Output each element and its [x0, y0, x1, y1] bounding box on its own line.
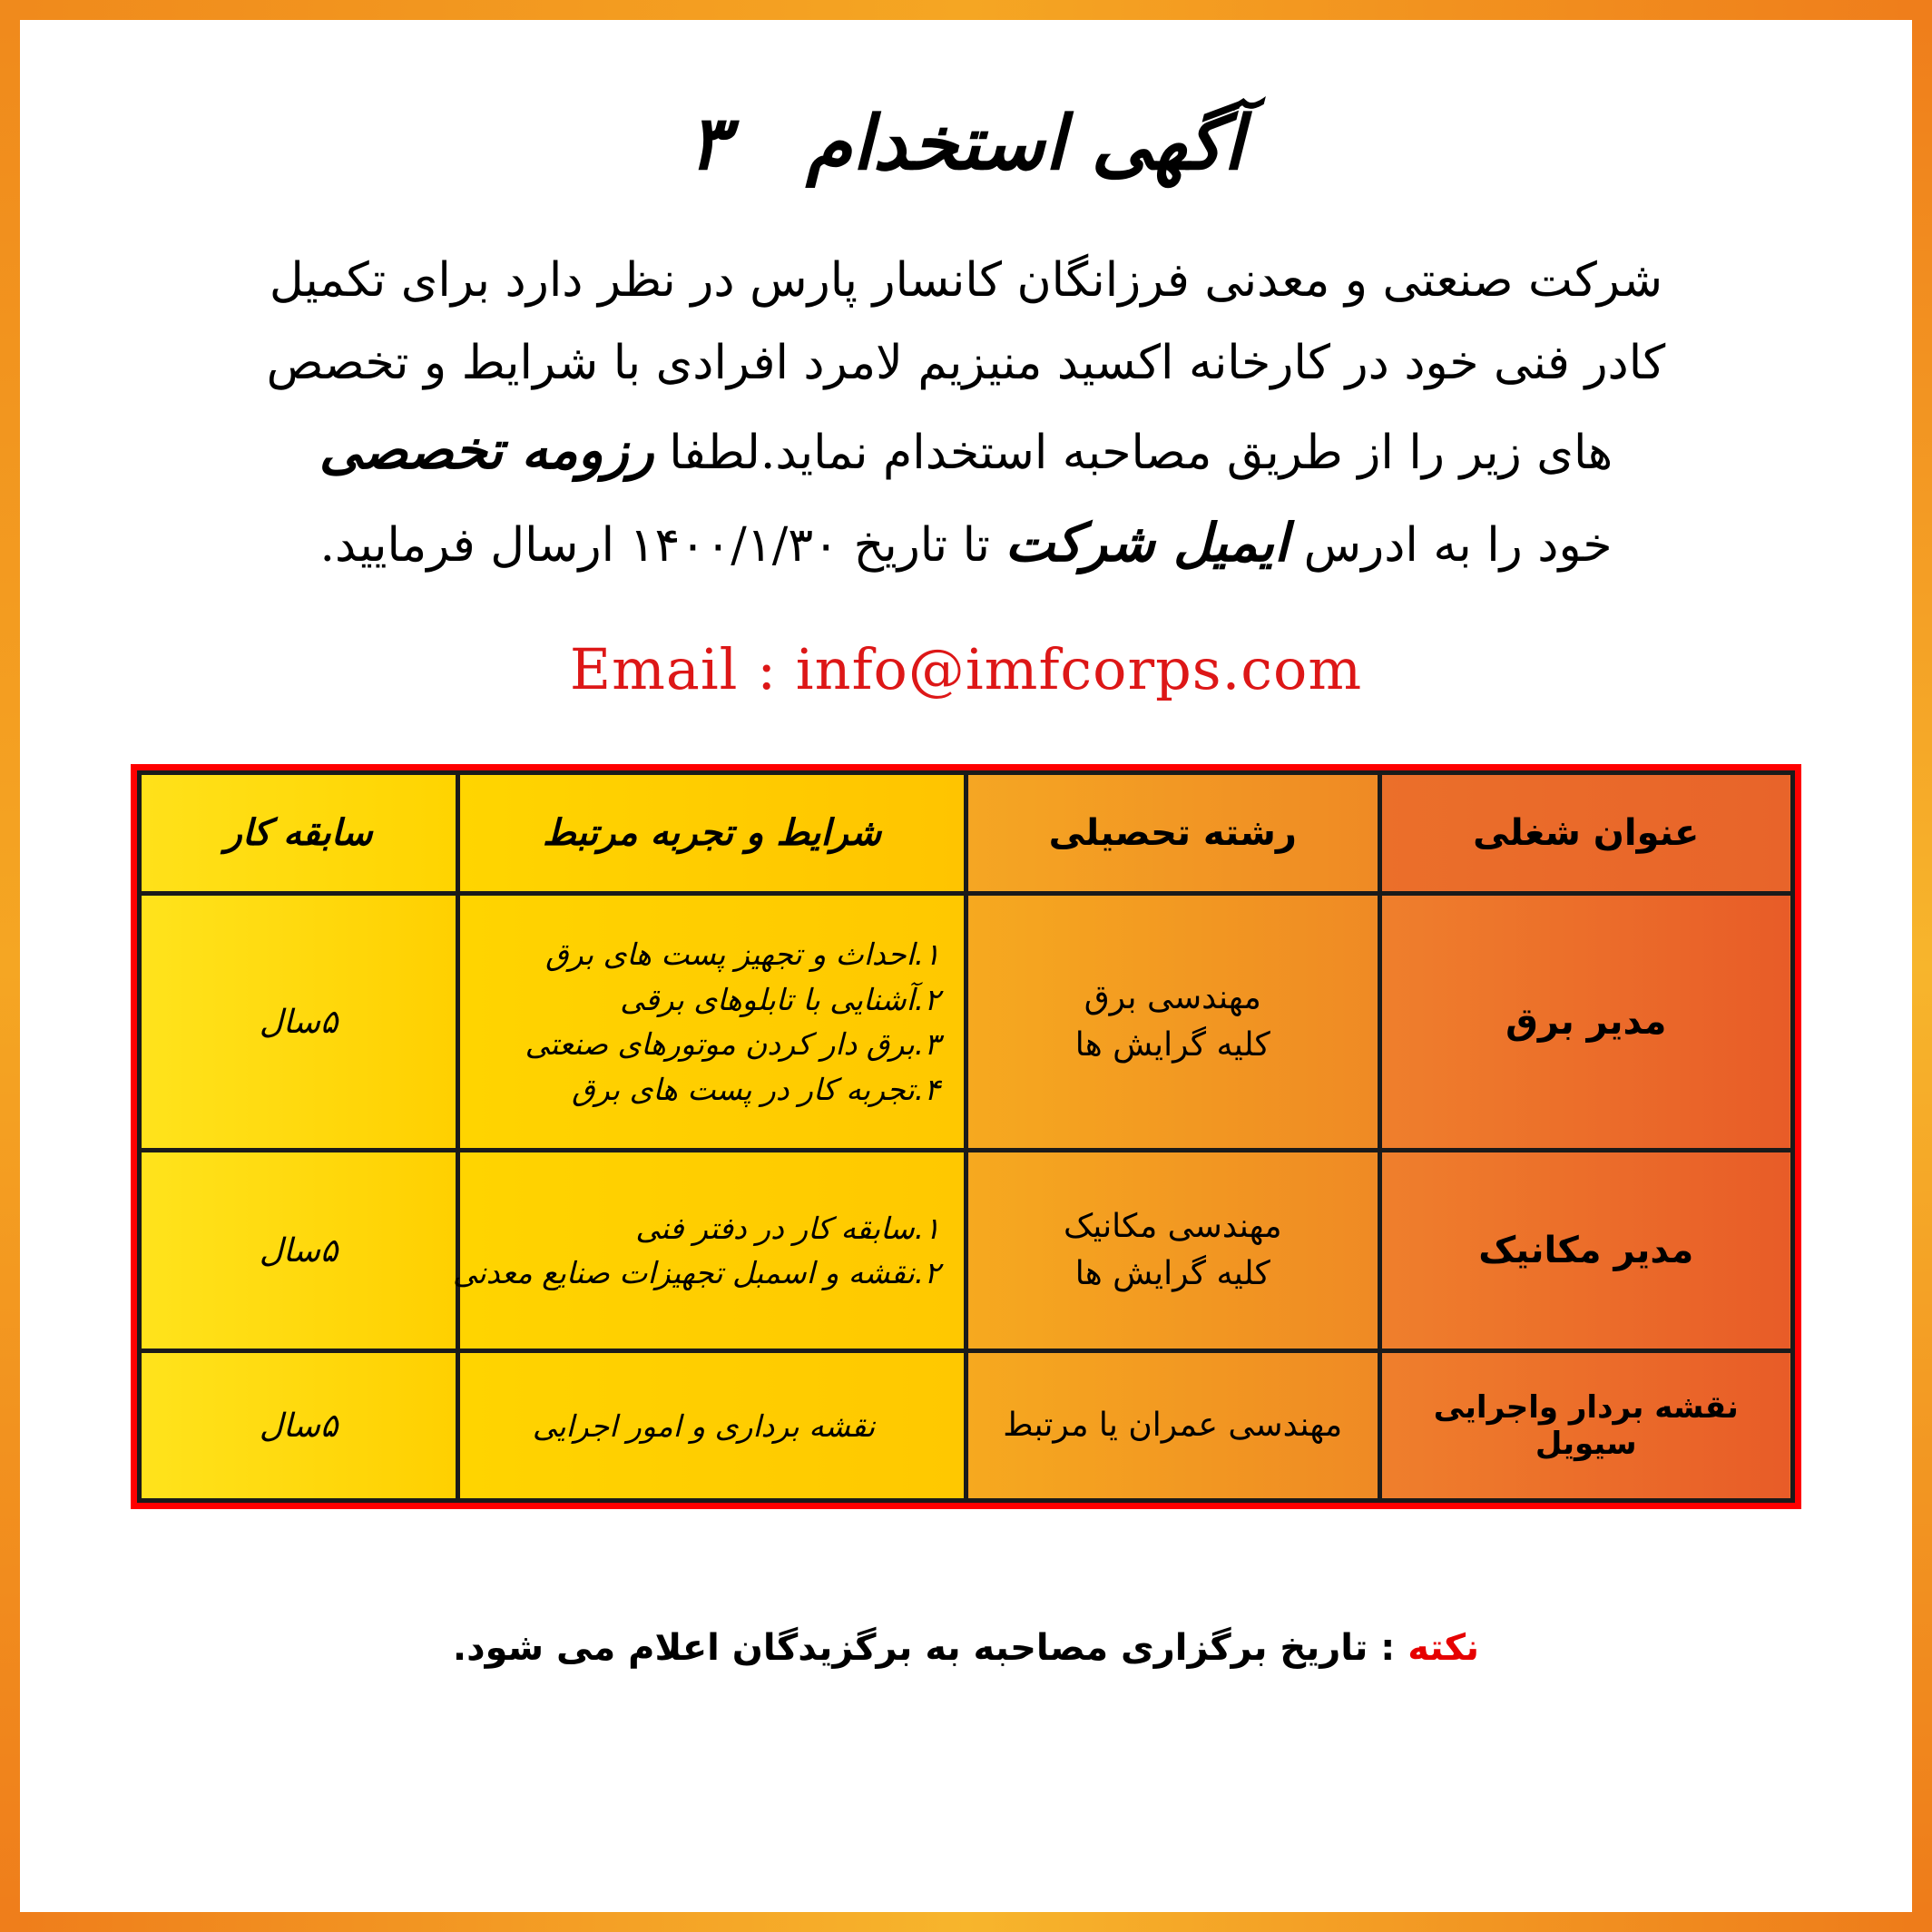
header-conditions: شرایط و تجربه مرتبط — [458, 773, 966, 894]
conditions-list: ۱.احداث و تجهیز پست های برق ۲.آشنایی با … — [467, 932, 940, 1112]
cell-field-of-study: مهندسی عمران یا مرتبط — [966, 1351, 1380, 1501]
jobs-table: عنوان شغلی رشته تحصیلی شرایط و تجربه مرت… — [137, 770, 1795, 1503]
cell-conditions: ۱.سابقه کار در دفتر فنی ۲.نقشه و اسمبل ت… — [458, 1151, 966, 1351]
list-item: نقشه برداری و امور اجرایی — [467, 1404, 940, 1449]
cell-job-title: نقشه بردار واجرایی سیویل — [1379, 1351, 1793, 1501]
edu-line-2: کلیه گرایش ها — [976, 1250, 1370, 1298]
header-job-title: عنوان شغلی — [1379, 773, 1793, 894]
edu-line-1: مهندسی مکانیک — [976, 1203, 1370, 1250]
list-item: ۴.تجربه کار در پست های برق — [467, 1067, 940, 1113]
poster-content: آگهی استخدام ۳ شرکت صنعتی و معدنی فرزانگ… — [20, 20, 1912, 1912]
edu-line-1: مهندسی برق — [976, 975, 1370, 1022]
intro-emphasis-resume: رزومه تخصصی — [319, 419, 654, 481]
intro-emphasis-company-email: ایمیل شرکت — [1005, 512, 1290, 574]
jobs-table-header: عنوان شغلی رشته تحصیلی شرایط و تجربه مرت… — [140, 773, 1793, 894]
list-item: ۳.برق دار کردن موتورهای صنعتی — [467, 1022, 940, 1067]
footer-note: نکته : تاریخ برگزاری مصاحبه به برگزیدگان… — [74, 1627, 1858, 1669]
conditions-list: نقشه برداری و امور اجرایی — [467, 1404, 940, 1449]
table-header-row: عنوان شغلی رشته تحصیلی شرایط و تجربه مرت… — [140, 773, 1793, 894]
list-item: ۲.آشنایی با تابلوهای برقی — [467, 977, 940, 1023]
table-row: مدیر برق مهندسی برق کلیه گرایش ها ۱.احدا… — [140, 894, 1793, 1151]
cell-conditions: نقشه برداری و امور اجرایی — [458, 1351, 966, 1501]
page-title: آگهی استخدام ۳ — [74, 102, 1858, 187]
intro-paragraph: شرکت صنعتی و معدنی فرزانگان کانسار پارس … — [138, 240, 1794, 589]
jobs-table-body: مدیر برق مهندسی برق کلیه گرایش ها ۱.احدا… — [140, 894, 1793, 1501]
cell-job-title: مدیر مکانیک — [1379, 1151, 1793, 1351]
edu-line-2: کلیه گرایش ها — [976, 1022, 1370, 1069]
cell-experience: ۵سال — [140, 1151, 458, 1351]
note-text: : تاریخ برگزاری مصاحبه به برگزیدگان اعلا… — [453, 1627, 1407, 1669]
intro-line-3: های زیر را از طریق مصاحبه استخدام نماید.… — [138, 405, 1794, 497]
edu-line-1: مهندسی عمران یا مرتبط — [976, 1402, 1370, 1449]
cell-experience: ۵سال — [140, 894, 458, 1151]
intro-line-4-text-b: تا تاریخ ۱۴۰۰/۱/۳۰ ارسال فرمایید. — [320, 518, 1005, 573]
list-item: ۱.احداث و تجهیز پست های برق — [467, 932, 940, 977]
cell-experience: ۵سال — [140, 1351, 458, 1501]
table-row: مدیر مکانیک مهندسی مکانیک کلیه گرایش ها … — [140, 1151, 1793, 1351]
note-label: نکته — [1407, 1627, 1479, 1669]
intro-line-4-text-a: خود را به ادرس — [1289, 518, 1612, 573]
jobs-table-container: عنوان شغلی رشته تحصیلی شرایط و تجربه مرت… — [131, 764, 1801, 1509]
intro-line-4: خود را به ادرس ایمیل شرکت تا تاریخ ۱۴۰۰/… — [138, 497, 1794, 590]
cell-field-of-study: مهندسی مکانیک کلیه گرایش ها — [966, 1151, 1380, 1351]
list-item: ۱.سابقه کار در دفتر فنی — [467, 1206, 940, 1251]
cell-conditions: ۱.احداث و تجهیز پست های برق ۲.آشنایی با … — [458, 894, 966, 1151]
conditions-list: ۱.سابقه کار در دفتر فنی ۲.نقشه و اسمبل ت… — [467, 1206, 940, 1296]
header-field-of-study: رشته تحصیلی — [966, 773, 1380, 894]
job-advertisement-poster: آگهی استخدام ۳ شرکت صنعتی و معدنی فرزانگ… — [0, 0, 1932, 1932]
intro-line-2: کادر فنی خود در کارخانه اکسید منیزیم لام… — [138, 322, 1794, 405]
cell-job-title: مدیر برق — [1379, 894, 1793, 1151]
table-row: نقشه بردار واجرایی سیویل مهندسی عمران یا… — [140, 1351, 1793, 1501]
list-item: ۲.نقشه و اسمبل تجهیزات صنایع معدنی — [467, 1250, 940, 1296]
cell-field-of-study: مهندسی برق کلیه گرایش ها — [966, 894, 1380, 1151]
header-experience: سابقه کار — [140, 773, 458, 894]
intro-line-1: شرکت صنعتی و معدنی فرزانگان کانسار پارس … — [138, 240, 1794, 322]
intro-line-3-text: های زیر را از طریق مصاحبه استخدام نماید.… — [654, 426, 1613, 480]
contact-email[interactable]: Email : info@imfcorps.com — [74, 636, 1858, 702]
